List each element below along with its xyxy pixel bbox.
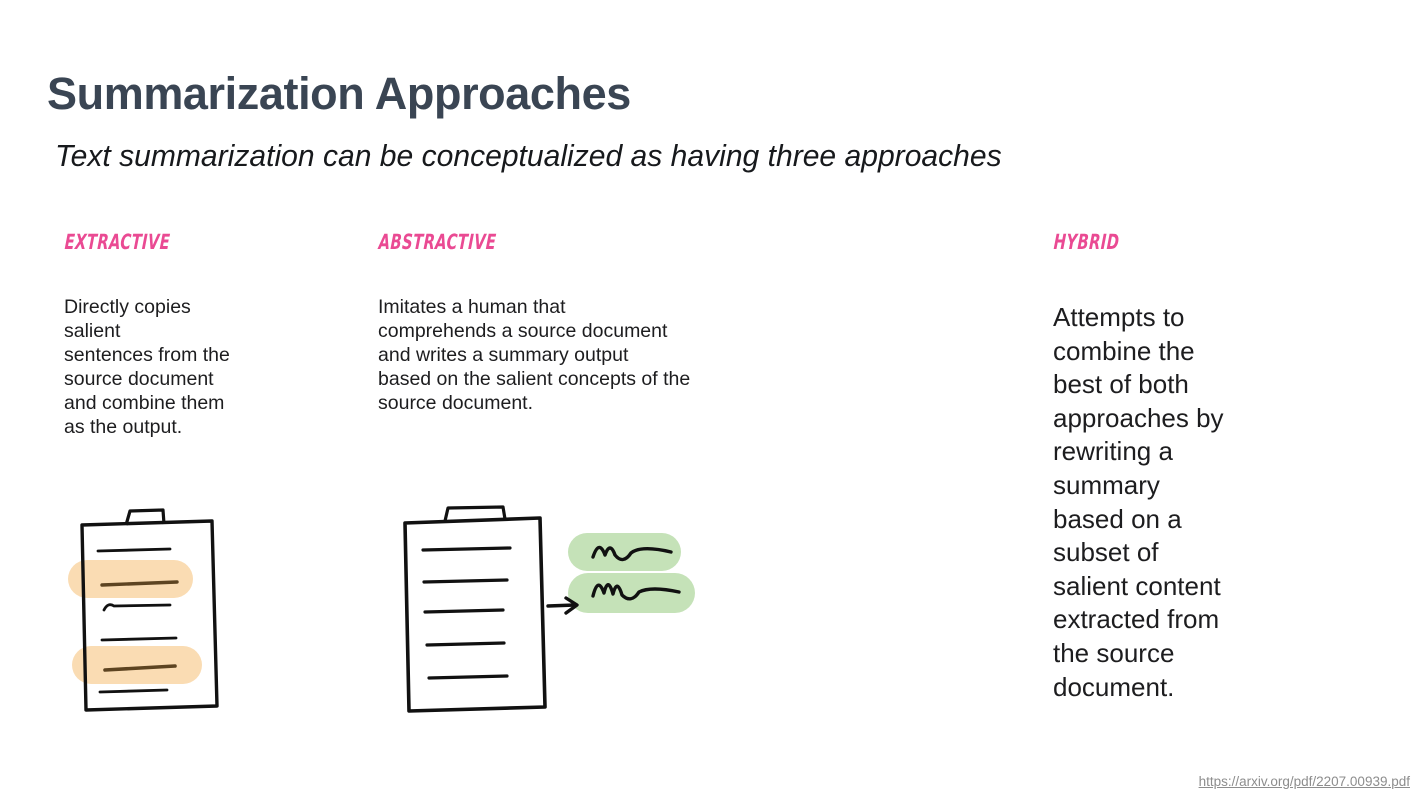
document-outline [405,518,545,711]
page-title: Summarization Approaches [47,68,631,120]
extractive-illustration [60,498,260,738]
green-highlight-group [568,533,695,613]
slide-canvas: Summarization Approaches Text summarizat… [0,0,1424,797]
abstractive-illustration [385,495,715,740]
document-text-lines [423,548,510,678]
slide-subtitle: Text summarization can be conceptualized… [55,138,1002,174]
highlight-band-group [68,560,202,684]
right-arrow-icon [548,598,577,613]
column-extractive: Extractive Directly copies salient sente… [64,225,364,439]
column-heading-hybrid: Hybrid [1053,225,1257,255]
column-body-extractive: Directly copies salient sentences from t… [64,295,364,439]
column-body-hybrid: Attempts to combine the best of both app… [1053,301,1313,704]
column-hybrid: Hybrid Attempts to combine the best of b… [1053,225,1313,704]
orange-highlight-2 [72,646,202,684]
column-body-abstractive: Imitates a human that comprehends a sour… [378,295,778,415]
column-abstractive: Abstractive Imitates a human that compre… [378,225,778,415]
orange-highlight-1 [68,560,193,598]
column-heading-abstractive: Abstractive [378,225,692,255]
source-link[interactable]: https://arxiv.org/pdf/2207.00939.pdf [1199,774,1410,789]
column-heading-extractive: Extractive [64,225,300,255]
